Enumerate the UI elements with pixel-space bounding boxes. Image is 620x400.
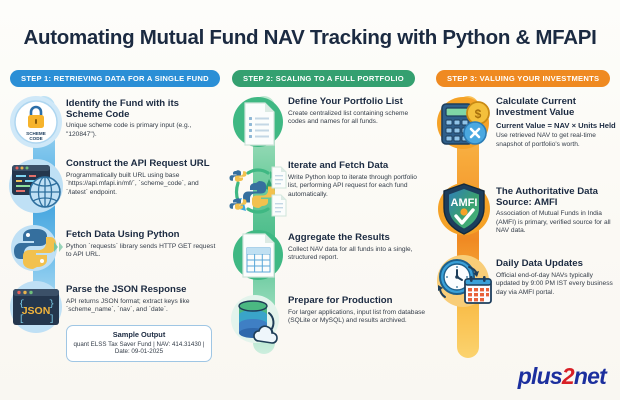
logo-part-plus: plus [518,363,562,389]
svg-text:AMFI: AMFI [451,197,478,209]
step-2-item-2-body: Write Python loop to iterate through por… [288,174,426,199]
spreadsheet-table-icon [228,227,288,283]
step-2-item-4-heading: Prepare for Production [288,296,426,307]
step-2-item-1-heading: Define Your Portfolio List [288,97,426,108]
logo-part-2: 2 [562,363,574,389]
sample-output-body: quant ELSS Tax Saver Fund | NAV: 414.314… [73,341,205,357]
step-1-item-2-body: Programmatically built URL using base `h… [66,172,218,197]
amfi-shield-icon: AMFI [432,179,496,239]
page-title: Automating Mutual Fund NAV Tracking with… [0,26,620,50]
step-3-item-3-body: Official end-of-day NAVs typically updat… [496,272,616,297]
step-1-item-1-body: Unique scheme code is primary input (e.g… [66,122,218,139]
step-2-item-3: Aggregate the Results Collect NAV data f… [228,227,428,283]
python-logo-icon [6,223,66,273]
step-3-item-3-heading: Daily Data Updates [496,259,616,270]
step-2-item-2-heading: Iterate and Fetch Data [288,161,426,172]
svg-text:CODE: CODE [29,136,42,141]
step-3-item-3: Daily Data Updates Official end-of-day N… [432,253,618,311]
step-2-item-4-body: For larger applications, input list from… [288,309,426,326]
step-2-item-2: Iterate and Fetch Data Write Python loop… [228,159,428,221]
step-3-header-pill: STEP 3: VALUING YOUR INVESTMENTS [436,70,610,87]
step-2-item-3-heading: Aggregate the Results [288,233,426,244]
document-list-icon [228,95,288,153]
step-1-item-4-body: API returns JSON format; extract keys li… [66,298,218,315]
infographic-canvas: Automating Mutual Fund NAV Tracking with… [0,0,620,400]
step-1-item-4-heading: Parse the JSON Response [66,285,218,296]
svg-text:JSON: JSON [22,305,51,317]
column-step-1: STEP 1: RETRIEVING DATA FOR A SINGLE FUN… [6,68,222,335]
step-2-item-3-body: Collect NAV data for all funds into a si… [288,246,426,263]
step-2-item-4: Prepare for Production For larger applic… [228,291,428,349]
step-1-item-3-heading: Fetch Data Using Python [66,230,218,241]
json-window-icon: { } [ ] JSON [6,279,66,335]
step-3-item-2: AMFI The Authoritative Data Source: AMFI… [432,179,618,239]
step-1-item-3-body: Python `requests` library sends HTTP GET… [66,243,218,260]
logo-part-net: net [574,363,606,389]
step-1-item-3: Fetch Data Using Python Python `requests… [6,223,222,273]
svg-text:$: $ [475,107,482,121]
step-3-item-1-heading: Calculate Current Investment Value [496,97,616,118]
column-step-2: STEP 2: SCALING TO A FULL PORTFOLIO [228,68,428,349]
sample-output-title: Sample Output [73,330,205,339]
step-1-item-1-heading: Identify the Fund with its Scheme Code [66,99,218,120]
sample-output-card: Sample Output quant ELSS Tax Saver Fund … [66,325,212,362]
step-2-item-1: Define Your Portfolio List Create centra… [228,95,428,153]
step-3-item-1-formula: Current Value = NAV × Units Held [496,121,616,130]
python-loop-icon [228,159,288,221]
column-step-3: STEP 3: VALUING YOUR INVESTMENTS $ [432,68,618,311]
step-2-header-pill: STEP 2: SCALING TO A FULL PORTFOLIO [232,70,415,87]
step-2-item-1-body: Create centralized list containing schem… [288,110,426,127]
database-cloud-icon [228,291,288,349]
step-1-item-2-heading: Construct the API Request URL [66,159,218,170]
calculator-coin-icon: $ [432,95,496,157]
clock-calendar-icon [432,253,496,311]
plus2net-logo: plus2net [518,363,606,390]
step-1-item-2: Construct the API Request URL Programmat… [6,155,222,217]
step-3-item-2-heading: The Authoritative Data Source: AMFI [496,187,616,208]
code-window-globe-icon [6,155,66,217]
step-1-header-pill: STEP 1: RETRIEVING DATA FOR A SINGLE FUN… [10,70,220,87]
step-3-item-1: $ Calculate Current Investment Value Cur… [432,95,618,157]
step-3-item-2-body: Association of Mutual Funds in India (AM… [496,210,616,235]
step-3-item-1-body: Use retrieved NAV to get real-time snaps… [496,132,616,149]
step-1-item-1: SCHEME CODE Identify the Fund with its S… [6,95,222,149]
padlock-scheme-code-icon: SCHEME CODE [6,95,66,149]
